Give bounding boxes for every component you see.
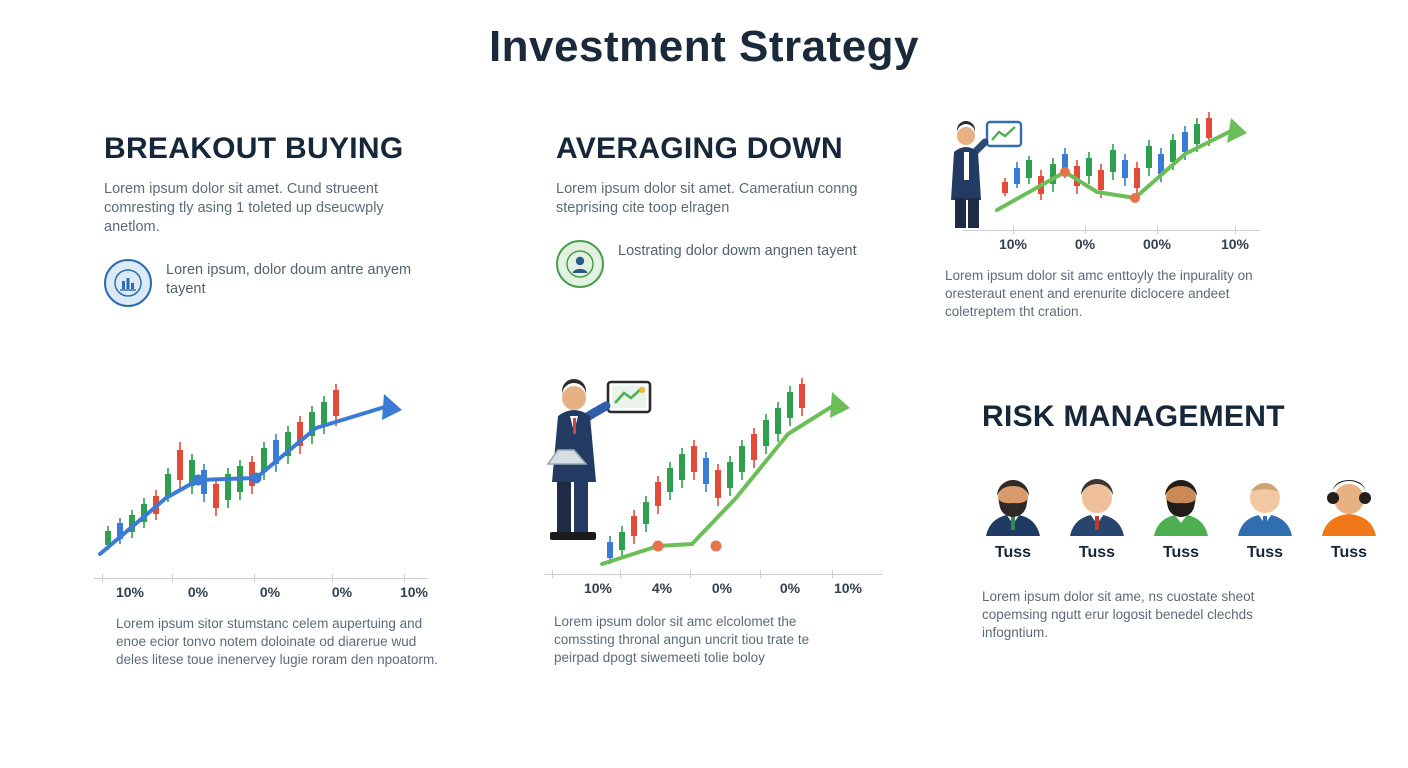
section-paragraph-breakout: Lorem ipsum dolor sit amet. Cund strueen… bbox=[104, 180, 434, 237]
axis-label: 0% bbox=[332, 584, 352, 600]
bullet-text-breakout: Loren ipsum, dolor doum antre anyem taye… bbox=[166, 259, 444, 299]
chart-avatar-icon bbox=[104, 259, 152, 307]
data-marker bbox=[1130, 193, 1140, 203]
axis-tick bbox=[254, 574, 255, 582]
axis-tick bbox=[832, 570, 833, 578]
axis-label: 10% bbox=[999, 236, 1027, 252]
person-avatar-2: Tuss bbox=[1066, 474, 1128, 562]
businessman-icon bbox=[951, 121, 1021, 228]
chart-axis bbox=[963, 230, 1260, 231]
chart-bottom-mid: 10% 4% 0% 0% 10% bbox=[540, 368, 890, 593]
caption-bottom-left: Lorem ipsum sitor stumstanc celem aupert… bbox=[116, 615, 446, 669]
person-label: Tuss bbox=[1318, 544, 1380, 562]
axis-tick bbox=[1013, 226, 1014, 234]
bullet-averaging: Lostrating dolor dowm angnen tayent bbox=[556, 240, 886, 288]
page-title: Investment Strategy bbox=[0, 22, 1408, 72]
trend-line bbox=[100, 406, 388, 554]
data-marker bbox=[193, 475, 204, 486]
axis-tick bbox=[404, 574, 405, 582]
axis-tick bbox=[172, 574, 173, 582]
data-marker bbox=[711, 541, 722, 552]
infographic-page: Investment Strategy BREAKOUT BUYING Lore… bbox=[0, 0, 1408, 768]
chart-bottom-mid-svg bbox=[540, 368, 890, 593]
chart-bottom-left-block: 10% 0% 0% 0% 10% Lorem ipsum sitor stums… bbox=[88, 368, 448, 669]
axis-label: 10% bbox=[584, 580, 612, 596]
axis-label: 10% bbox=[116, 584, 144, 600]
axis-label: 10% bbox=[400, 584, 428, 600]
person-avatar-icon bbox=[556, 240, 604, 288]
candlesticks bbox=[105, 384, 339, 550]
person-avatar-3: Tuss bbox=[1150, 474, 1212, 562]
bullet-breakout: Loren ipsum, dolor doum antre anyem taye… bbox=[104, 259, 444, 307]
axis-tick bbox=[1157, 226, 1158, 234]
person-label: Tuss bbox=[982, 544, 1044, 562]
chart-top-right: 10% 0% 00% 10% bbox=[945, 100, 1300, 245]
section-averaging-down: AVERAGING DOWN Lorem ipsum dolor sit ame… bbox=[556, 132, 886, 288]
axis-label: 0% bbox=[260, 584, 280, 600]
axis-label: 10% bbox=[1221, 236, 1249, 252]
axis-label: 0% bbox=[780, 580, 800, 596]
chart-bottom-left: 10% 0% 0% 0% 10% bbox=[88, 368, 438, 593]
data-marker bbox=[1060, 167, 1070, 177]
section-risk-management: RISK MANAGEMENT Tuss bbox=[982, 400, 1322, 642]
axis-label: 10% bbox=[834, 580, 862, 596]
bullet-text-averaging: Lostrating dolor dowm angnen tayent bbox=[618, 240, 857, 261]
section-heading-breakout: BREAKOUT BUYING bbox=[104, 132, 444, 166]
caption-bottom-mid: Lorem ipsum dolor sit amc elcolomet the … bbox=[554, 613, 854, 667]
axis-label: 0% bbox=[188, 584, 208, 600]
chart-top-right-svg bbox=[945, 100, 1300, 245]
section-heading-averaging: AVERAGING DOWN bbox=[556, 132, 886, 166]
axis-tick bbox=[1235, 226, 1236, 234]
chart-top-right-block: 10% 0% 00% 10% Lorem ipsum dolor sit amc… bbox=[945, 100, 1305, 321]
axis-label: 0% bbox=[1075, 236, 1095, 252]
person-avatar-4: Tuss bbox=[1234, 474, 1296, 562]
axis-tick bbox=[1085, 226, 1086, 234]
axis-label: 00% bbox=[1143, 236, 1171, 252]
axis-tick bbox=[552, 570, 553, 578]
axis-tick bbox=[690, 570, 691, 578]
axis-tick bbox=[760, 570, 761, 578]
chart-bottom-left-svg bbox=[88, 368, 438, 593]
person-label: Tuss bbox=[1150, 544, 1212, 562]
chart-axis bbox=[94, 578, 428, 579]
axis-label: 0% bbox=[712, 580, 732, 596]
person-label: Tuss bbox=[1234, 544, 1296, 562]
person-avatar-1: Tuss bbox=[982, 474, 1044, 562]
data-marker bbox=[653, 541, 664, 552]
person-label: Tuss bbox=[1066, 544, 1128, 562]
people-row: Tuss Tuss bbox=[982, 474, 1322, 562]
trend-arrow-head bbox=[830, 392, 850, 418]
axis-tick bbox=[332, 574, 333, 582]
person-avatar-5: Tuss bbox=[1318, 474, 1380, 562]
caption-risk: Lorem ipsum dolor sit ame, ns cuostate s… bbox=[982, 588, 1302, 642]
trend-arrow-head bbox=[382, 394, 402, 420]
axis-tick bbox=[102, 574, 103, 582]
trend-arrow-head bbox=[1227, 118, 1247, 143]
section-heading-risk: RISK MANAGEMENT bbox=[982, 400, 1322, 434]
data-marker bbox=[251, 473, 262, 484]
axis-tick bbox=[620, 570, 621, 578]
caption-top-right: Lorem ipsum dolor sit amc enttoyly the i… bbox=[945, 267, 1285, 321]
chart-bottom-mid-block: 10% 4% 0% 0% 10% Lorem ipsum dolor sit a… bbox=[540, 368, 900, 667]
section-breakout-buying: BREAKOUT BUYING Lorem ipsum dolor sit am… bbox=[104, 132, 444, 307]
axis-label: 4% bbox=[652, 580, 672, 596]
section-paragraph-averaging: Lorem ipsum dolor sit amet. Cameratiun c… bbox=[556, 180, 866, 218]
